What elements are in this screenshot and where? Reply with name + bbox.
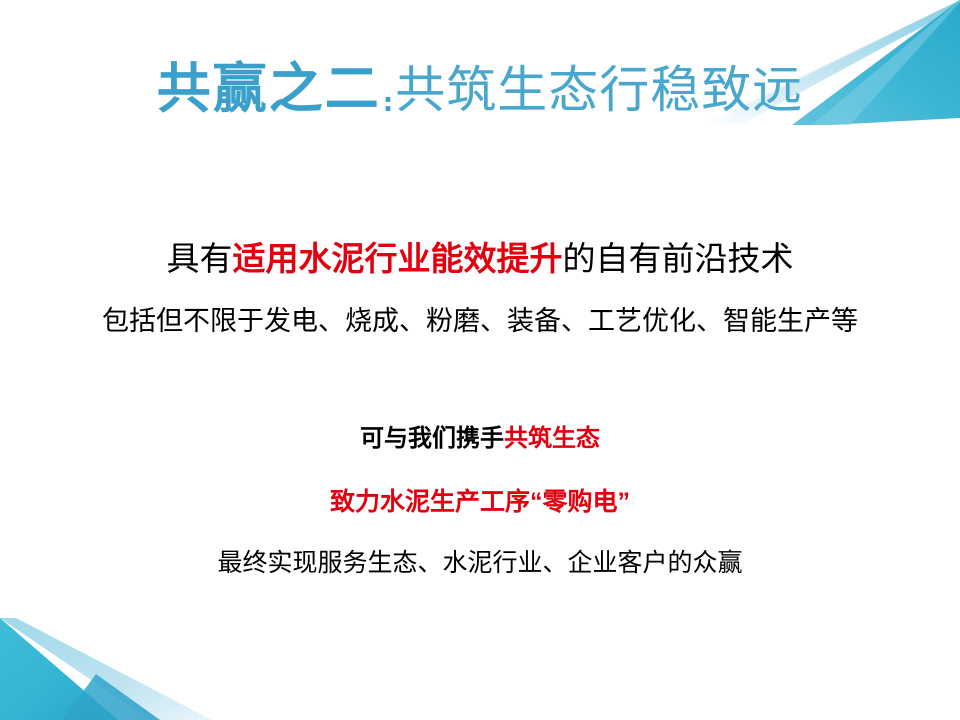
line5-text: 最终实现服务生态、水泥行业、企业客户的众赢 [217,549,742,577]
body-line-5: 最终实现服务生态、水泥行业、企业客户的众赢 [0,546,960,580]
title-separator: : [381,88,395,118]
line3-prefix: 可与我们携手 [360,425,504,452]
body-line-4: 致力水泥生产工序“零购电” [0,485,960,519]
line2-text: 包括但不限于发电、烧成、粉磨、装备、工艺优化、智能生产等 [102,306,858,336]
body-line-2: 包括但不限于发电、烧成、粉磨、装备、工艺优化、智能生产等 [0,303,960,339]
diagonal-ribbon-bottom-left [0,600,300,720]
ribbon-band-dark [0,618,118,720]
ribbon-band-light [0,618,212,720]
line1-prefix: 具有 [167,240,233,277]
body-line-1: 具有适用水泥行业能效提升的自有前沿技术 [0,238,960,280]
title-main: 共赢之二 [157,57,381,120]
ribbon-band-deep [62,674,160,720]
line3-highlight: 共筑生态 [504,425,600,452]
line1-suffix: 的自有前沿技术 [563,240,794,277]
slide-canvas: 共赢之二:共筑生态行稳致远 具有适用水泥行业能效提升的自有前沿技术 包括但不限于… [0,0,960,720]
line4-text: 致力水泥生产工序“零购电” [330,488,630,516]
body-line-3: 可与我们携手共筑生态 [0,423,960,455]
title-subtitle: 共筑生态行稳致远 [395,61,803,119]
line1-highlight: 适用水泥行业能效提升 [233,240,563,277]
slide-title: 共赢之二:共筑生态行稳致远 [0,62,960,116]
